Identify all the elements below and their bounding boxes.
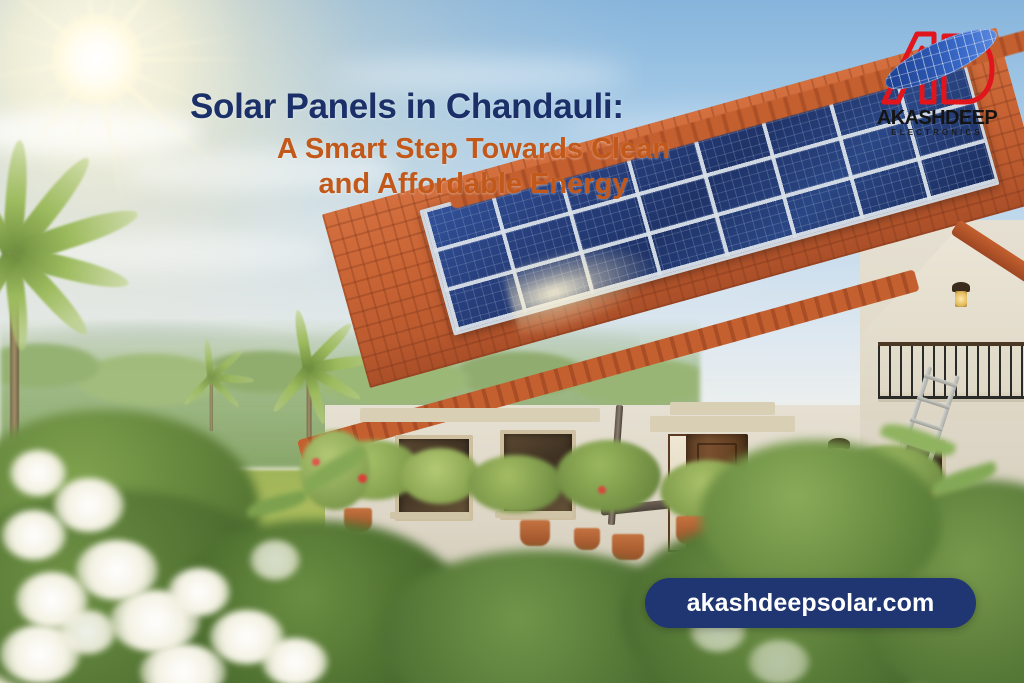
subtitle-line-2: and Affordable Energy [212,167,735,202]
page-title: Solar Panels in Chandauli: [190,88,735,126]
sun-disc [52,14,142,104]
subtitle-line-1: A Smart Step Towards Clean [212,132,735,167]
logo-monogram-ad [872,28,1002,110]
logo-company-name: AKASHDEEP [862,108,1012,128]
headline-block: Solar Panels in Chandauli: A Smart Step … [190,88,735,203]
page-subtitle: A Smart Step Towards Clean and Affordabl… [190,132,735,203]
website-url-text: akashdeepsolar.com [687,589,935,618]
company-logo[interactable]: AKASHDEEP ELECTRONICS [862,28,1012,150]
website-url-badge[interactable]: akashdeepsolar.com [645,578,976,628]
banner-image: Solar Panels in Chandauli: A Smart Step … [0,0,1024,683]
foreground-vegetation [0,400,1024,683]
logo-company-tagline: ELECTRONICS [862,128,1012,137]
